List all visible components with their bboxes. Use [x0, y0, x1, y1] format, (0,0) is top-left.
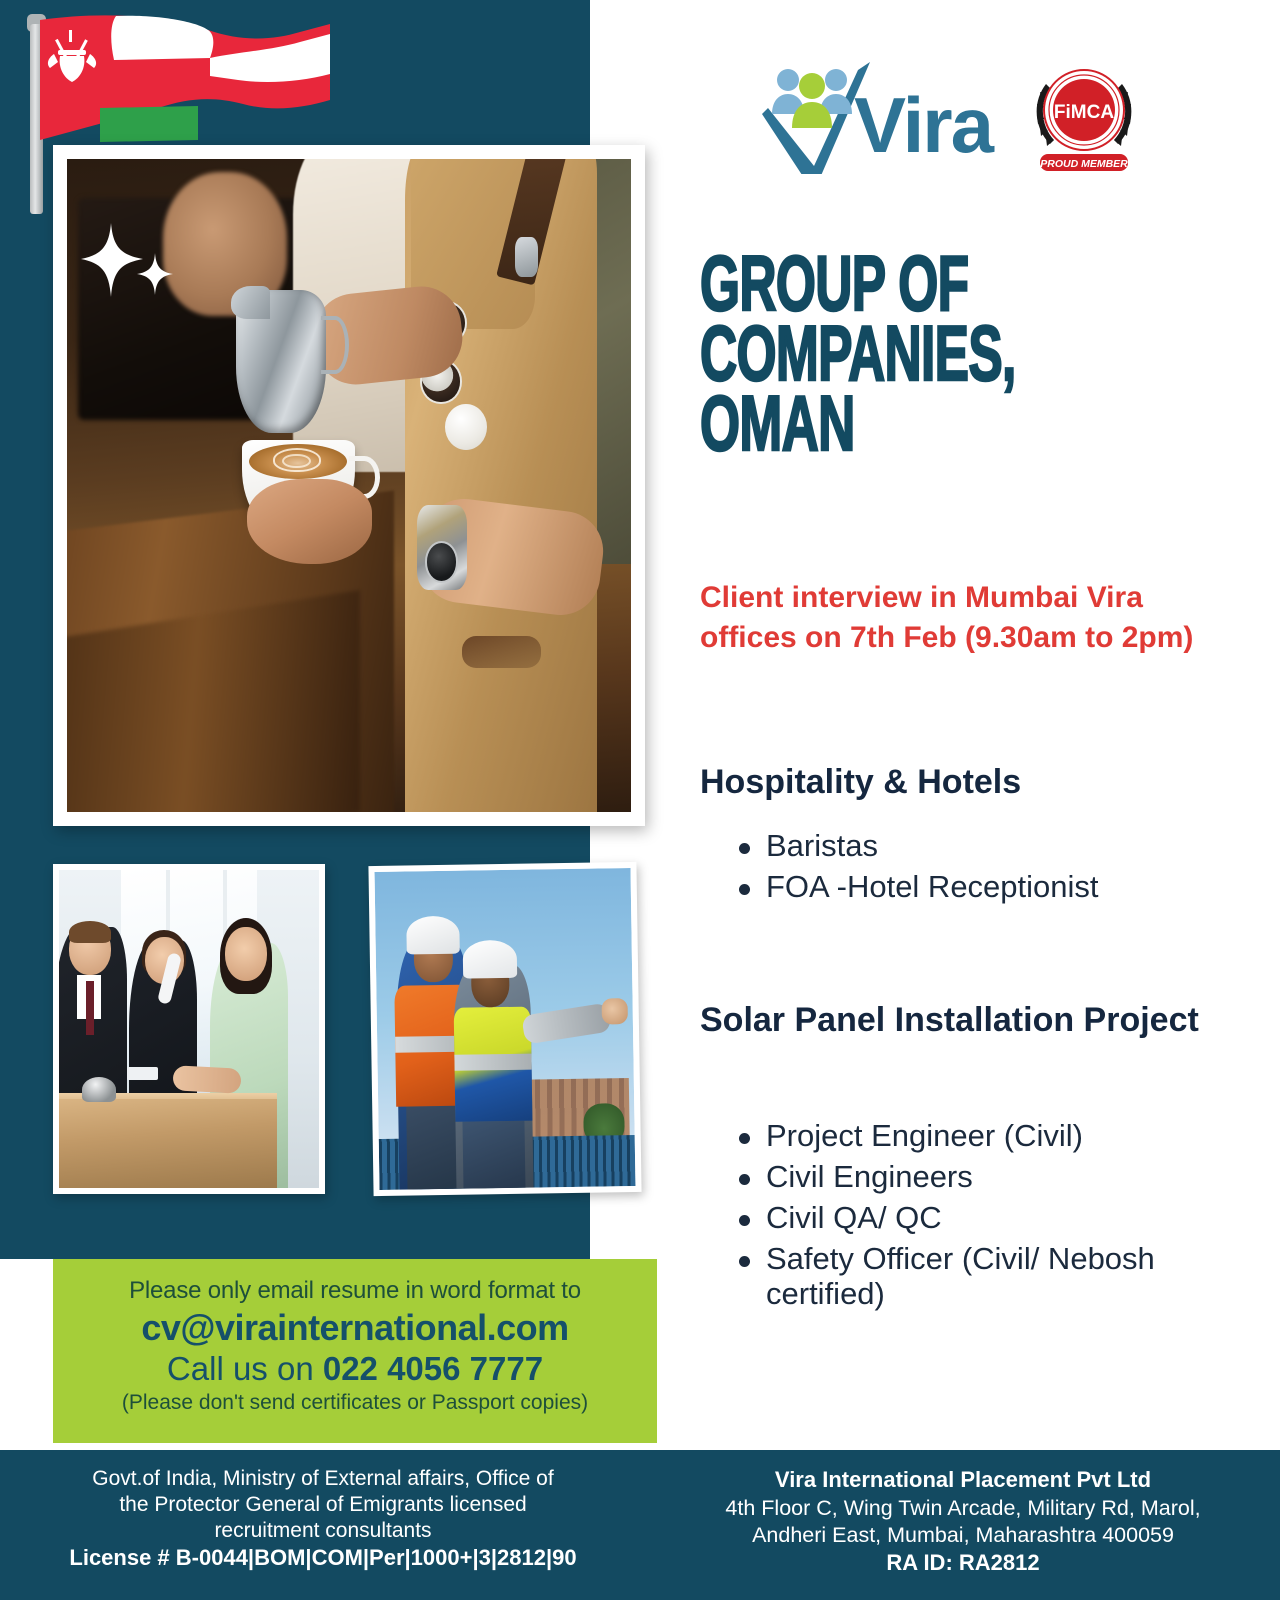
contact-note: (Please don't send certificates or Passp…	[53, 1391, 657, 1415]
fimca-proud-member-badge: FiMCA PROUD MEMBER	[1026, 58, 1142, 174]
list-item: Project Engineer (Civil)	[726, 1118, 1236, 1153]
vira-logo: Vira	[762, 58, 1000, 174]
vira-wordmark: Vira	[854, 86, 992, 164]
list-item: Civil Engineers	[726, 1159, 1236, 1194]
section-title-solar: Solar Panel Installation Project	[700, 1000, 1230, 1040]
footer-line-3: recruitment consultants	[30, 1518, 616, 1544]
list-item: Safety Officer (Civil/ Nebosh certified)	[726, 1241, 1236, 1311]
footer: Govt.of India, Ministry of External affa…	[0, 1450, 1280, 1600]
proud-member-ribbon-text: PROUD MEMBER	[1040, 158, 1128, 170]
contact-email[interactable]: cv@virainternational.com	[53, 1307, 657, 1349]
recruitment-flyer: Vira FiMCA PROUD MEMBER GROUP OF COMPANI…	[0, 0, 1280, 1600]
footer-line-2: the Protector General of Emigrants licen…	[30, 1492, 616, 1518]
section-title-hospitality: Hospitality & Hotels	[700, 762, 1220, 802]
footer-line-1: Govt.of India, Ministry of External affa…	[30, 1466, 616, 1492]
job-list-solar: Project Engineer (Civil) Civil Engineers…	[726, 1118, 1236, 1317]
interview-notice: Client interview in Mumbai Vira offices …	[700, 578, 1200, 657]
contact-phone[interactable]: 022 4056 7777	[323, 1350, 543, 1387]
logo-row: Vira FiMCA PROUD MEMBER	[762, 58, 1142, 174]
ra-id: RA ID: RA2812	[670, 1549, 1256, 1578]
license-number: License # B-0044|BOM|COM|Per|1000+|3|281…	[30, 1544, 616, 1573]
list-item: FOA -Hotel Receptionist	[726, 869, 1226, 904]
page-title: GROUP OF COMPANIES, OMAN	[700, 248, 1043, 459]
email-instruction: Please only email resume in word format …	[53, 1277, 657, 1305]
footer-license-block: Govt.of India, Ministry of External affa…	[0, 1450, 646, 1600]
address-line-2: Andheri East, Mumbai, Maharashtra 400059	[670, 1522, 1256, 1549]
call-prefix-label: Call us on	[167, 1350, 314, 1387]
list-item: Civil QA/ QC	[726, 1200, 1236, 1235]
job-list-hospitality: Baristas FOA -Hotel Receptionist	[726, 828, 1226, 910]
company-name: Vira International Placement Pvt Ltd	[670, 1466, 1256, 1495]
construction-workers-photo	[368, 862, 641, 1196]
contact-box: Please only email resume in word format …	[53, 1259, 657, 1443]
fimca-badge-text: FiMCA	[1054, 102, 1114, 123]
address-line-1: 4th Floor C, Wing Twin Arcade, Military …	[670, 1495, 1256, 1522]
hotel-reception-photo	[53, 864, 325, 1194]
list-item: Baristas	[726, 828, 1226, 863]
footer-address-block: Vira International Placement Pvt Ltd 4th…	[646, 1450, 1280, 1600]
contact-phone-line: Call us on 022 4056 7777	[53, 1350, 657, 1388]
sparkle-icon	[77, 217, 197, 317]
barista-pouring-latte-photo	[53, 145, 645, 826]
